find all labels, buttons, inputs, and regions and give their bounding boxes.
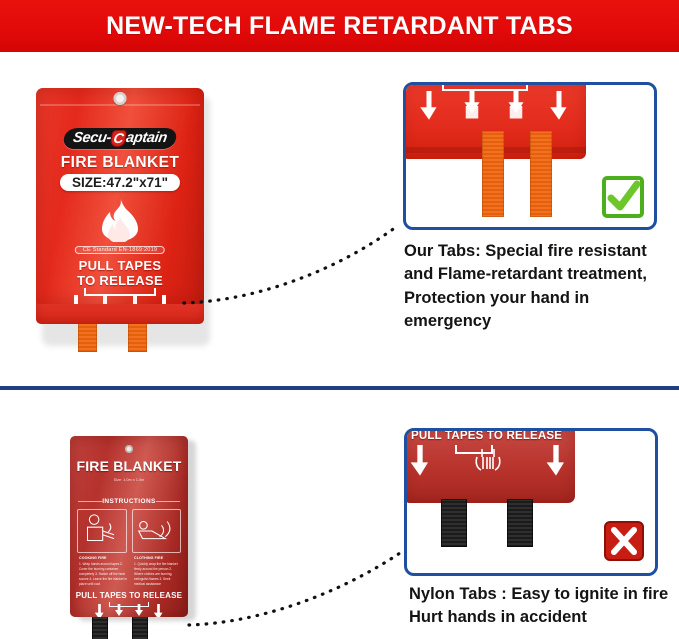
down-arrow-icon [420,91,438,121]
pull-bracket-graphic [442,82,528,91]
instruction-steps-right: 1. Quickly wrap the fire blanket firmly … [134,562,182,587]
orange-pull-tab-closeup [530,131,552,217]
pull-arrow-row [70,604,188,617]
brand-suffix: aptain [125,130,168,146]
brand-logo: Secu- C aptain [46,126,194,150]
hand-pull-icon [97,295,113,304]
instruction-caption-left: COOKING FIRE [79,556,107,560]
red-x-icon [603,520,645,562]
instruction-diagram-cooking-fire [77,509,127,553]
shield-icon: C [111,130,126,145]
down-arrow-icon [69,295,83,304]
product-name: FIRE BLANKET [36,154,204,172]
pull-instruction-line-2: TO RELEASE [36,273,204,288]
pull-instruction: PULL TAPES TO RELEASE [411,430,562,442]
size-line: Size: 1.0m x 1.0m [76,478,182,483]
hand-pull-icon [506,91,526,121]
brand-shield-letter: C [111,129,127,145]
down-arrow-icon [550,91,568,121]
caption-nylon-tabs: Nylon Tabs : Easy to ignite in fire Hurt… [409,583,677,630]
down-arrow-icon [157,295,171,304]
section-divider [0,386,679,390]
rule-left [78,501,102,502]
down-arrow-icon [545,445,567,477]
header-banner: NEW-TECH FLAME RETARDANT TABS [0,0,679,52]
brand-prefix: Secu- [72,130,113,146]
pull-instruction-line-1: PULL TAPES [36,258,204,273]
down-arrow-icon [94,604,105,617]
clothing-fire-illustration [133,510,181,552]
size-label: SIZE:47.2"x71" [60,174,180,191]
caption-our-tabs: Our Tabs: Special fire resistant and Fla… [404,240,676,334]
package-face: Secu- C aptain FIRE BLANKET SIZE:47.2"x7… [36,88,204,304]
hand-pull-icon [127,295,143,304]
product-name: FIRE BLANKET [70,458,188,474]
instruction-caption-right: CLOTHING FIRE [134,556,163,560]
rule-right [156,501,180,502]
page-title: NEW-TECH FLAME RETARDANT TABS [106,12,573,41]
down-arrow-icon [153,604,164,617]
instruction-diagram-clothing-fire [132,509,182,553]
detail-panel-our-tabs [403,82,657,230]
cooking-fire-illustration [78,510,126,552]
connector-line-top [180,215,410,310]
hand-pull-icon [133,604,145,617]
down-arrow-icon [409,445,431,477]
instruction-steps-left: 1. Wrap hands around tapes 2. Cover the … [79,562,127,587]
pull-arrow-row [36,295,204,304]
orange-pull-tab-closeup [482,131,504,217]
infographic-page: NEW-TECH FLAME RETARDANT TABS Secu- C ap… [0,0,679,639]
package-edge-closeup: PULL TAPES TO RELEASE [404,428,575,503]
connector-line-bottom [185,545,415,635]
flame-icon [94,196,146,242]
instruction-diagrams [77,509,181,553]
package-face: FIRE BLANKET Size: 1.0m x 1.0m INSTRUCTI… [70,436,188,617]
hands-pull-icon [471,445,505,475]
product-package-competitor: FIRE BLANKET Size: 1.0m x 1.0m INSTRUCTI… [70,430,196,639]
hang-hole-icon [125,445,133,453]
hand-pull-icon [462,91,482,121]
detail-panel-nylon-tabs: PULL TAPES TO RELEASE [404,428,658,576]
product-package-secu-captain: Secu- C aptain FIRE BLANKET SIZE:47.2"x7… [36,88,204,338]
nylon-pull-tab-closeup [441,499,467,547]
pull-instruction: PULL TAPES TO RELEASE [70,591,188,600]
green-check-icon [602,176,644,218]
hang-hole-icon [114,92,127,105]
pull-arrow-row [408,91,580,127]
pull-arrow-row [409,445,567,479]
certification-label: CE Standard EN-1869:2019 [75,246,165,254]
hand-pull-icon [113,604,125,617]
nylon-pull-tab-closeup [507,499,533,547]
